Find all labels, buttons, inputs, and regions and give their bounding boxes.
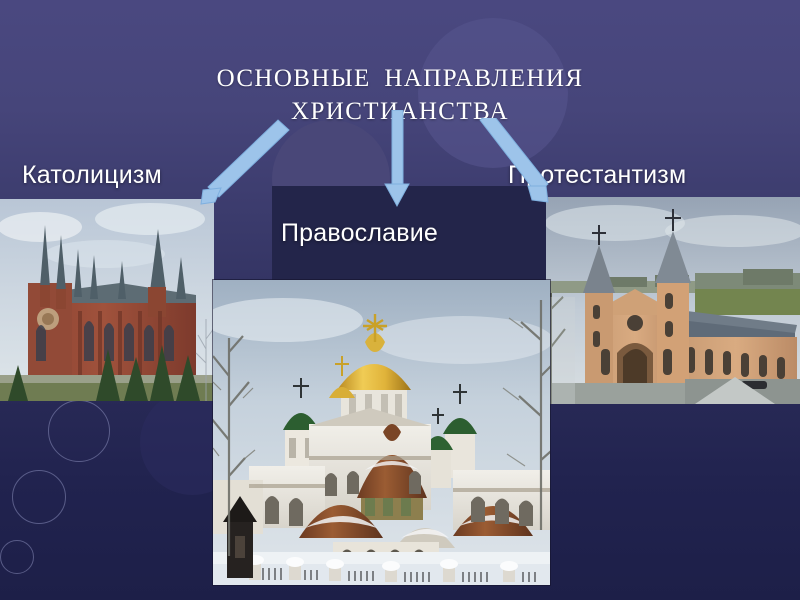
presentation-slide: ОСНОВНЫЕ НАПРАВЛЕНИЯ ХРИСТИАНСТВА bbox=[0, 0, 800, 600]
decorative-circle-outline-3 bbox=[0, 540, 34, 574]
vertical-down-arrow-icon bbox=[380, 110, 414, 210]
branch-label-orthodoxy: Православие bbox=[281, 219, 438, 248]
decorative-circle-outline-1 bbox=[48, 400, 110, 462]
photo-orthodoxy: Православный собор зимой с золотым купол… bbox=[213, 280, 550, 585]
diagonal-down-right-arrow-icon bbox=[478, 118, 558, 208]
protestant-church-illustration bbox=[545, 197, 800, 404]
orthodox-cathedral-illustration bbox=[213, 280, 550, 585]
decorative-circle-outline-2 bbox=[12, 470, 66, 524]
branch-label-catholicism: Католицизм bbox=[22, 161, 162, 190]
photo-protestantism: Протестантская кирха с двумя шпилями и к… bbox=[545, 197, 800, 404]
diagonal-down-left-arrow-icon bbox=[185, 118, 300, 210]
catholic-cathedral-illustration bbox=[0, 199, 214, 401]
photo-catholicism: Готический краснокирпичный католический … bbox=[0, 199, 214, 401]
